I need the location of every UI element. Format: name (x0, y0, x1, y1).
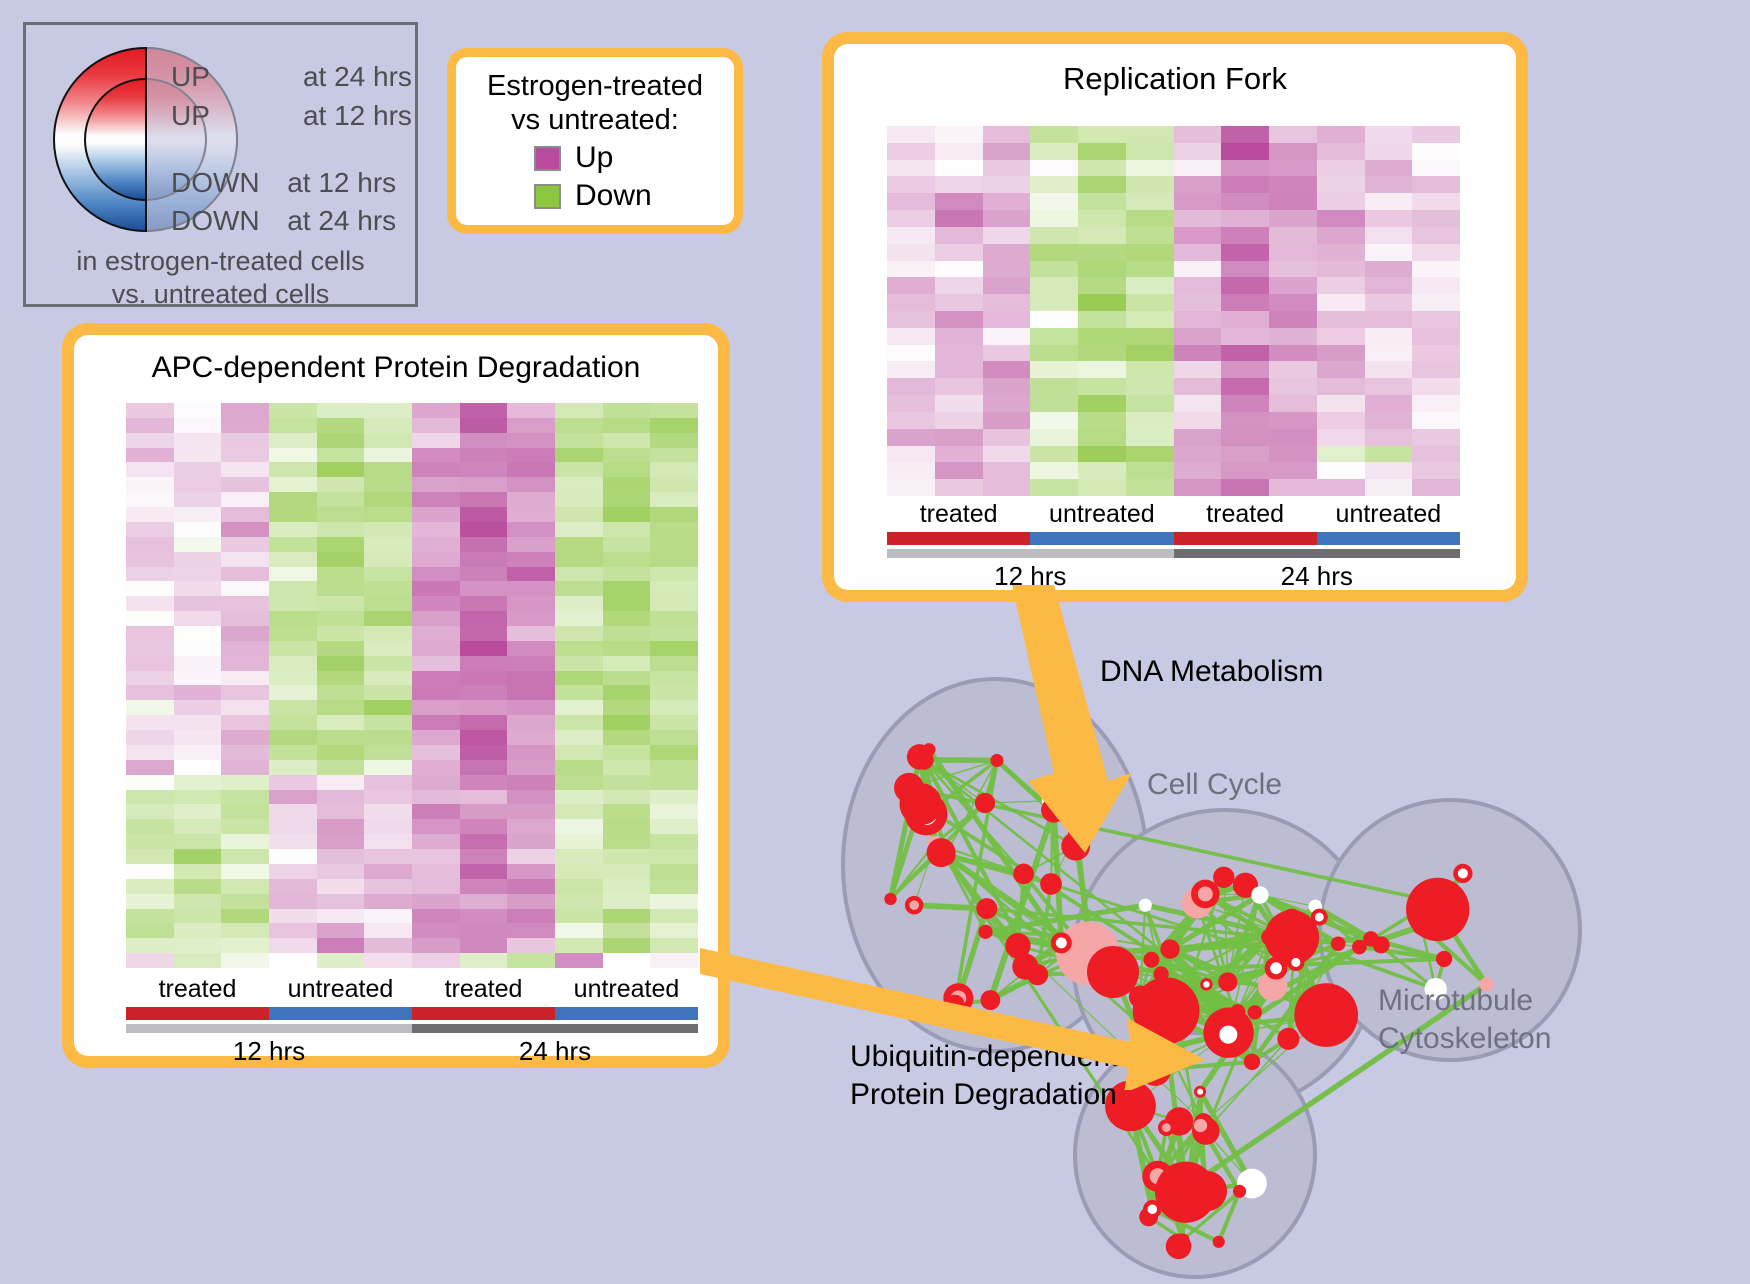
heatmap-cell (364, 834, 412, 849)
heatmap-cell (364, 790, 412, 805)
heatmap-cell (650, 477, 698, 492)
heatmap-cell (935, 378, 983, 395)
heatmap-cell (412, 730, 460, 745)
heatmap-cell (1126, 378, 1174, 395)
heatmap-cell (221, 819, 269, 834)
heatmap-cell (1412, 412, 1460, 429)
heatmap-cell (1078, 244, 1126, 261)
heatmap-cell (887, 378, 935, 395)
heatmap-cell (364, 537, 412, 552)
heatmap-cell (1412, 446, 1460, 463)
heatmap-cell (603, 923, 651, 938)
heatmap-cell (1030, 244, 1078, 261)
heatmap-cell (1030, 143, 1078, 160)
heatmap-cell (1317, 193, 1365, 210)
heatmap-cell (983, 294, 1031, 311)
heatmap-cell (935, 328, 983, 345)
heatmap-cell (507, 790, 555, 805)
heatmap-cell (126, 671, 174, 686)
heatmap-cell (650, 834, 698, 849)
heatmap-cell (1365, 210, 1413, 227)
network-node-core[interactable] (1270, 962, 1282, 974)
heatmap-cell (1174, 446, 1222, 463)
heatmap-cell (174, 790, 222, 805)
heatmap-cell (1365, 328, 1413, 345)
heatmap-cell (507, 775, 555, 790)
legend-row-1: UP at 12 hrs (171, 100, 412, 132)
heatmap-cell (887, 328, 935, 345)
heatmap-cell (317, 938, 365, 953)
heatmap-cell (364, 700, 412, 715)
heatmap-cell (1126, 143, 1174, 160)
heatmap-cell (460, 418, 508, 433)
heatmap-cell (221, 849, 269, 864)
heatmap-cell (317, 656, 365, 671)
heatmap-cell (126, 730, 174, 745)
heatmap-cell (1412, 361, 1460, 378)
heatmap-cell (269, 700, 317, 715)
network-node[interactable] (884, 893, 896, 905)
heatmap-cell (221, 581, 269, 596)
heatmap-cell (1221, 429, 1269, 446)
heatmap-cell (221, 923, 269, 938)
heatmap-cell (221, 448, 269, 463)
network-node[interactable] (1040, 873, 1062, 895)
heatmap-cell (317, 790, 365, 805)
heatmap-cell (412, 522, 460, 537)
heatmap-cell (983, 378, 1031, 395)
heatmap-cell (507, 760, 555, 775)
heatmap-cell (983, 328, 1031, 345)
heatmap-cell (935, 412, 983, 429)
heatmap-cell (650, 790, 698, 805)
heatmap-cell (1030, 311, 1078, 328)
heatmap-cell (364, 879, 412, 894)
heatmap-cell (269, 775, 317, 790)
heatmap-cell (174, 730, 222, 745)
heatmap-cell (364, 403, 412, 418)
heatmap-cell (555, 596, 603, 611)
network-node[interactable] (1139, 899, 1152, 912)
heatmap-cell (269, 894, 317, 909)
heatmap-cell (126, 760, 174, 775)
heatmap-cell (507, 834, 555, 849)
heatmap-cell (1317, 294, 1365, 311)
heatmap-cell (887, 479, 935, 496)
heatmap-cell (507, 953, 555, 968)
heatmap-cell (221, 730, 269, 745)
heatmap-cell (650, 403, 698, 418)
heatmap-cell (269, 462, 317, 477)
heatmap-cell (174, 522, 222, 537)
heatmap-cell (174, 626, 222, 641)
heatmap-cell (1317, 345, 1365, 362)
heatmap-cell (1078, 429, 1126, 446)
heatmap-cell (174, 715, 222, 730)
heatmap-cell (1126, 479, 1174, 496)
heatmap-cell (555, 581, 603, 596)
vertical-divider (145, 47, 147, 232)
heatmap-cell (603, 909, 651, 924)
heatmap-cell (269, 492, 317, 507)
heatmap-cell (650, 953, 698, 968)
heatmap-cell (269, 909, 317, 924)
heatmap-cell (507, 849, 555, 864)
heatmap-cell (935, 462, 983, 479)
heatmap-cell (1221, 244, 1269, 261)
heatmap-cell (460, 596, 508, 611)
network-node-core[interactable] (909, 900, 919, 910)
heatmap-cell (1365, 429, 1413, 446)
heatmap-cell (221, 567, 269, 582)
heatmap-cell (983, 210, 1031, 227)
heatmap-cell (126, 433, 174, 448)
heatmap-cell (1174, 328, 1222, 345)
heatmap-cell (887, 210, 935, 227)
heatmap-cell (1126, 328, 1174, 345)
heatmap-cell (460, 834, 508, 849)
heatmap-cell (507, 433, 555, 448)
heatmap-cell (1078, 328, 1126, 345)
heatmap-cell (603, 849, 651, 864)
network-node-core[interactable] (1458, 868, 1468, 878)
heatmap-cell (1126, 294, 1174, 311)
heatmap-cell (126, 775, 174, 790)
heatmap-cell (460, 923, 508, 938)
network-node[interactable] (1187, 1171, 1227, 1211)
heatmap-cell (1221, 345, 1269, 362)
heatmap-cell (174, 879, 222, 894)
legend-row-3: DOWN at 24 hrs (171, 205, 396, 237)
timepoint-labels: 12 hrs 24 hrs (126, 1036, 698, 1067)
heatmap-cell (650, 626, 698, 641)
heatmap-cell (1126, 160, 1174, 177)
heatmap-cell (460, 641, 508, 656)
heatmap-cell (412, 819, 460, 834)
heatmap-cell (1126, 345, 1174, 362)
network-node[interactable] (1213, 867, 1234, 888)
heatmap-cell (412, 641, 460, 656)
heatmap-cell (269, 626, 317, 641)
network-node-core[interactable] (1198, 887, 1213, 902)
heatmap-cell (935, 143, 983, 160)
heatmap-cell (126, 745, 174, 760)
heatmap-cell (983, 126, 1031, 143)
heatmap-cell (603, 671, 651, 686)
heatmap-cell (1030, 126, 1078, 143)
heatmap-cell (603, 492, 651, 507)
heatmap-cell (1030, 261, 1078, 278)
legend-time: at 12 hrs (303, 100, 412, 131)
heatmap-cell (364, 819, 412, 834)
heatmap-cell (412, 656, 460, 671)
heatmap-cell (1412, 328, 1460, 345)
heatmap-cell (650, 596, 698, 611)
heatmap-cell (1221, 311, 1269, 328)
heatmap-cell (555, 804, 603, 819)
heatmap-cell (650, 849, 698, 864)
heatmap-cell (650, 671, 698, 686)
heatmap-cell (174, 567, 222, 582)
heatmap-cell (1030, 328, 1078, 345)
network-node[interactable] (976, 898, 997, 919)
heatmap-cell (460, 864, 508, 879)
heatmap-cell (174, 448, 222, 463)
heatmap-cell (1174, 345, 1222, 362)
heatmap-cell (887, 193, 935, 210)
heatmap-cell (174, 671, 222, 686)
heatmap-cell (507, 864, 555, 879)
network-node[interactable] (1277, 1028, 1299, 1050)
heatmap-cell (1221, 176, 1269, 193)
heatmap-cell (221, 834, 269, 849)
heatmap-cell (269, 433, 317, 448)
heatmap-cell (507, 462, 555, 477)
heatmap-cell (887, 345, 935, 362)
heatmap-cell (1269, 227, 1317, 244)
heatmap-cell (174, 611, 222, 626)
heatmap-cell (983, 311, 1031, 328)
network-node[interactable] (1426, 893, 1442, 909)
heatmap-cell (174, 403, 222, 418)
legend-item-down: Down (534, 179, 652, 213)
heatmap-cell (412, 804, 460, 819)
heatmap-cell (1221, 446, 1269, 463)
heatmap-cell (935, 160, 983, 177)
heatmap-cell (887, 176, 935, 193)
heatmap-cell (1269, 126, 1317, 143)
heatmap-cell (221, 804, 269, 819)
heatmap-cell (269, 685, 317, 700)
heatmap-cell (935, 395, 983, 412)
heatmap-cell (174, 760, 222, 775)
heatmap-cell (269, 448, 317, 463)
heatmap-cell (1317, 244, 1365, 261)
heatmap-cell (603, 745, 651, 760)
heatmap-cell (1365, 446, 1413, 463)
microtubule-line1: Microtubule (1378, 982, 1551, 1020)
heatmap-cell (983, 361, 1031, 378)
heatmap-cell (412, 685, 460, 700)
heatmap-cell (364, 552, 412, 567)
network-node-core[interactable] (1291, 958, 1300, 967)
heatmap-cell (317, 864, 365, 879)
legend-time: at 12 hrs (287, 167, 396, 198)
heatmap-cell (935, 277, 983, 294)
heatmap-cell (460, 626, 508, 641)
heatmap-cell (1221, 294, 1269, 311)
axis-replication-fork: treated untreated treated untreated 12 h… (887, 500, 1460, 592)
heatmap-cell (364, 522, 412, 537)
heatmap-cell (1412, 210, 1460, 227)
heatmap-cell (364, 507, 412, 522)
heatmap-cell (603, 477, 651, 492)
heatmap-cell (555, 671, 603, 686)
heatmap-cell (650, 938, 698, 953)
heatmap-cell (460, 819, 508, 834)
heatmap-cell (555, 477, 603, 492)
heatmap-cell (507, 522, 555, 537)
heatmap-cell (460, 760, 508, 775)
heatmap-cell (1078, 143, 1126, 160)
heatmap-cell (603, 641, 651, 656)
heatmap-cell (269, 804, 317, 819)
heatmap-cell (126, 492, 174, 507)
heatmap-cell (1412, 462, 1460, 479)
heatmap-cell (603, 938, 651, 953)
heatmap-cell (1126, 462, 1174, 479)
heatmap-cell (935, 210, 983, 227)
heatmap-cell (983, 446, 1031, 463)
network-node[interactable] (1294, 983, 1358, 1047)
heatmap-cell (126, 641, 174, 656)
treatment-color-bar (126, 1007, 698, 1020)
heatmap-cell (1317, 126, 1365, 143)
heatmap-cell (555, 403, 603, 418)
network-node[interactable] (894, 773, 924, 803)
network-node-core[interactable] (1162, 1123, 1171, 1132)
heatmap-cell (317, 596, 365, 611)
heatmap-cell (507, 403, 555, 418)
heatmap-cell (126, 700, 174, 715)
heatmap-cell (221, 879, 269, 894)
heatmap-cell (507, 492, 555, 507)
heatmap-cell (460, 715, 508, 730)
heatmap-cell (1317, 328, 1365, 345)
heatmap-cell (1126, 277, 1174, 294)
network-node[interactable] (1213, 1236, 1225, 1248)
heatmap-cell (603, 700, 651, 715)
heatmap-cell (1078, 294, 1126, 311)
heatmap-cell (269, 552, 317, 567)
heatmap-cell (983, 462, 1031, 479)
heatmap-cell (221, 790, 269, 805)
heatmap-cell (364, 656, 412, 671)
heatmap-cell (364, 745, 412, 760)
legend-row-2: DOWN at 12 hrs (171, 167, 396, 199)
heatmap-cell (603, 403, 651, 418)
heatmap-cell (555, 507, 603, 522)
heatmap-cell (555, 700, 603, 715)
network-node[interactable] (1251, 886, 1268, 903)
network-node[interactable] (1233, 1185, 1246, 1198)
heatmap-cell (1269, 193, 1317, 210)
heatmap-cell (1269, 311, 1317, 328)
heatmap-cell (1365, 261, 1413, 278)
heatmap-cell (650, 433, 698, 448)
heatmap-cell (935, 227, 983, 244)
heatmap-cell (269, 403, 317, 418)
network-node-core[interactable] (1147, 1204, 1157, 1214)
network-node[interactable] (1331, 936, 1346, 951)
heatmap-cell (1174, 395, 1222, 412)
heatmap-cell (935, 244, 983, 261)
network-node[interactable] (1194, 1119, 1207, 1132)
heatmap-cell (460, 552, 508, 567)
heatmap-cell (1365, 126, 1413, 143)
heatmap-cell (1174, 160, 1222, 177)
heatmap-cell (1078, 412, 1126, 429)
heatmap-cell (126, 596, 174, 611)
heatmap-cell (126, 507, 174, 522)
network-node[interactable] (1352, 940, 1367, 955)
network-node[interactable] (1285, 926, 1305, 946)
heatmap-cell (174, 641, 222, 656)
network-node[interactable] (1177, 1233, 1189, 1245)
heatmap-cell (935, 261, 983, 278)
timepoint-label: 12 hrs (126, 1036, 412, 1067)
heatmap-cell (650, 581, 698, 596)
heatmap-cell (174, 462, 222, 477)
network-node-core[interactable] (1315, 913, 1324, 922)
heatmap-cell (364, 730, 412, 745)
heatmap-cell (983, 176, 1031, 193)
heatmap-cell (603, 864, 651, 879)
heatmap-cell (412, 864, 460, 879)
heatmap-cell (1078, 446, 1126, 463)
legend-caption-line1: in estrogen-treated cells (26, 245, 415, 278)
heatmap-cell (603, 537, 651, 552)
heatmap-cell (221, 492, 269, 507)
group-labels: treated untreated treated untreated (887, 500, 1460, 529)
heatmap-cell (364, 462, 412, 477)
heatmap-cell (1412, 277, 1460, 294)
heatmap-cell (460, 433, 508, 448)
heatmap-cell (1412, 160, 1460, 177)
heatmap-cell (126, 685, 174, 700)
heatmap-cell (269, 656, 317, 671)
panel-replication-fork: Replication Fork treated untreated treat… (822, 32, 1528, 602)
heatmap-cell (317, 537, 365, 552)
heatmap-cell (364, 492, 412, 507)
heatmap-cell (603, 804, 651, 819)
heatmap-cell (1078, 210, 1126, 227)
heatmap-cell (364, 641, 412, 656)
network-node[interactable] (1373, 936, 1390, 953)
timepoint-color-bar (126, 1024, 698, 1033)
heatmap-cell (603, 552, 651, 567)
heatmap-cell (650, 656, 698, 671)
heatmap-cell (174, 477, 222, 492)
network-node[interactable] (1436, 951, 1452, 967)
heatmap-cell (1221, 126, 1269, 143)
network-node[interactable] (907, 744, 932, 769)
heatmap-cell (650, 894, 698, 909)
heatmap-cell (983, 345, 1031, 362)
heatmap-cell (507, 715, 555, 730)
heatmap-cell (555, 938, 603, 953)
heatmap-cell (603, 879, 651, 894)
heatmap-cell (1030, 227, 1078, 244)
heatmap-cell (317, 953, 365, 968)
heatmap-cell (126, 804, 174, 819)
heatmap-cell (460, 849, 508, 864)
heatmap-cell (555, 685, 603, 700)
heatmap-cell (1365, 176, 1413, 193)
heatmap-cell (1078, 345, 1126, 362)
heatmap-cell (221, 760, 269, 775)
heatmap-cell (1317, 429, 1365, 446)
heatmap-cell (221, 671, 269, 686)
heatmap-cell (269, 418, 317, 433)
heatmap-cell (364, 611, 412, 626)
heatmap-cell (364, 909, 412, 924)
heatmap-cell (221, 537, 269, 552)
heatmap-cell (412, 567, 460, 582)
network-node[interactable] (1406, 878, 1469, 941)
heatmap-cell (1221, 277, 1269, 294)
heatmap-cell (603, 418, 651, 433)
